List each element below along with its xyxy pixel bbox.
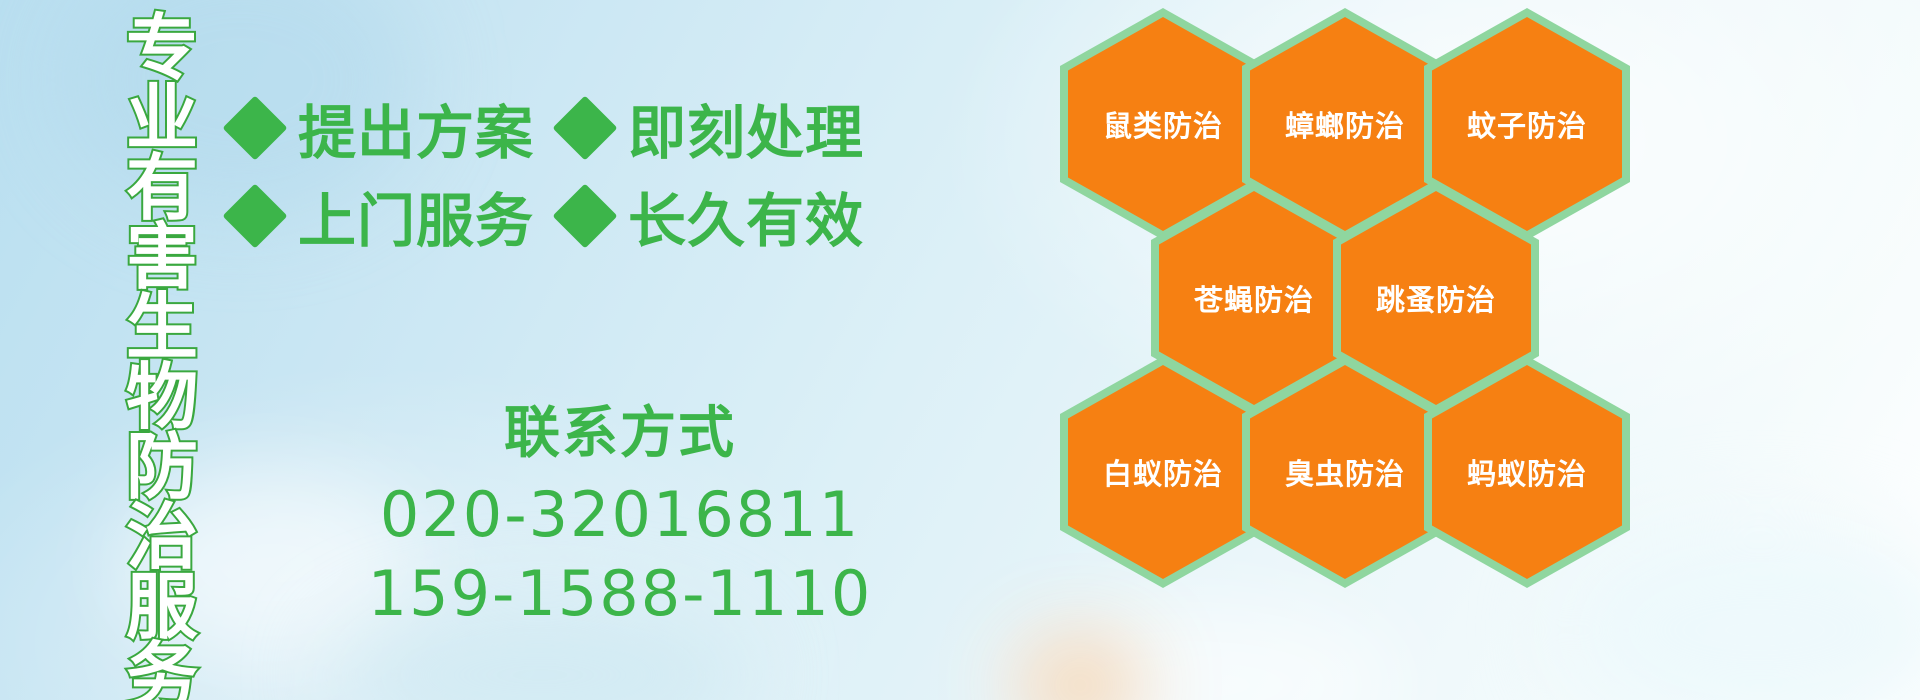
feature-list: 提出方案 即刻处理 上门服务 长久有效 <box>232 84 892 260</box>
pest-control-banner: 专 业 有 害 生 物 防 治 服 务 提出方案 即刻处理 上门服务 <box>0 0 1920 700</box>
contact-phone-landline[interactable]: 020-32016811 <box>300 475 940 554</box>
vertical-headline-char: 防 <box>126 433 198 503</box>
feature-label: 长久有效 <box>628 174 864 258</box>
service-hex-label: 蚂蚁防治 <box>1467 451 1587 493</box>
hex-inner: 臭虫防治 <box>1250 365 1440 579</box>
feature-item: 长久有效 <box>562 174 864 258</box>
feature-label: 上门服务 <box>298 174 534 258</box>
service-hex-label: 鼠类防治 <box>1103 103 1223 145</box>
diamond-bullet-icon <box>222 95 287 160</box>
vertical-headline-char: 务 <box>126 642 198 700</box>
service-hex-label: 白蚁防治 <box>1103 451 1223 493</box>
service-hex-label: 跳蚤防治 <box>1376 277 1496 319</box>
service-hex-label: 臭虫防治 <box>1285 451 1405 493</box>
contact-phone-mobile[interactable]: 159-1588-1110 <box>300 554 940 633</box>
vertical-headline-char: 物 <box>126 363 198 433</box>
feature-item: 上门服务 <box>232 174 534 258</box>
vertical-headline-char: 服 <box>126 573 198 643</box>
vertical-headline-char: 有 <box>126 154 198 224</box>
feature-label: 提出方案 <box>298 86 534 170</box>
vertical-headline: 专 业 有 害 生 物 防 治 服 务 <box>108 14 216 674</box>
feature-label: 即刻处理 <box>628 86 864 170</box>
vertical-headline-char: 生 <box>126 293 198 363</box>
hex-inner: 蚂蚁防治 <box>1432 365 1622 579</box>
service-hex-label: 蟑螂防治 <box>1285 103 1405 145</box>
contact-block: 联系方式 020-32016811 159-1588-1110 <box>300 388 940 634</box>
vertical-headline-char: 专 <box>126 14 198 84</box>
feature-item: 提出方案 <box>232 86 534 170</box>
feature-item: 即刻处理 <box>562 86 864 170</box>
hex-inner: 白蚁防治 <box>1068 365 1258 579</box>
diamond-bullet-icon <box>552 95 617 160</box>
vertical-headline-char: 害 <box>126 223 198 293</box>
contact-title: 联系方式 <box>300 388 940 469</box>
diamond-bullet-icon <box>552 183 617 248</box>
service-hex-label: 苍蝇防治 <box>1194 277 1314 319</box>
feature-row: 提出方案 即刻处理 <box>232 84 892 172</box>
vertical-headline-char: 业 <box>126 84 198 154</box>
diamond-bullet-icon <box>222 183 287 248</box>
vertical-headline-char: 治 <box>126 503 198 573</box>
feature-row: 上门服务 长久有效 <box>232 172 892 260</box>
service-hex-label: 蚊子防治 <box>1467 103 1587 145</box>
service-hex-grid: 鼠类防治 蟑螂防治 蚊子防治 苍蝇防治 跳蚤防治 白蚁防治 <box>1060 0 1860 700</box>
